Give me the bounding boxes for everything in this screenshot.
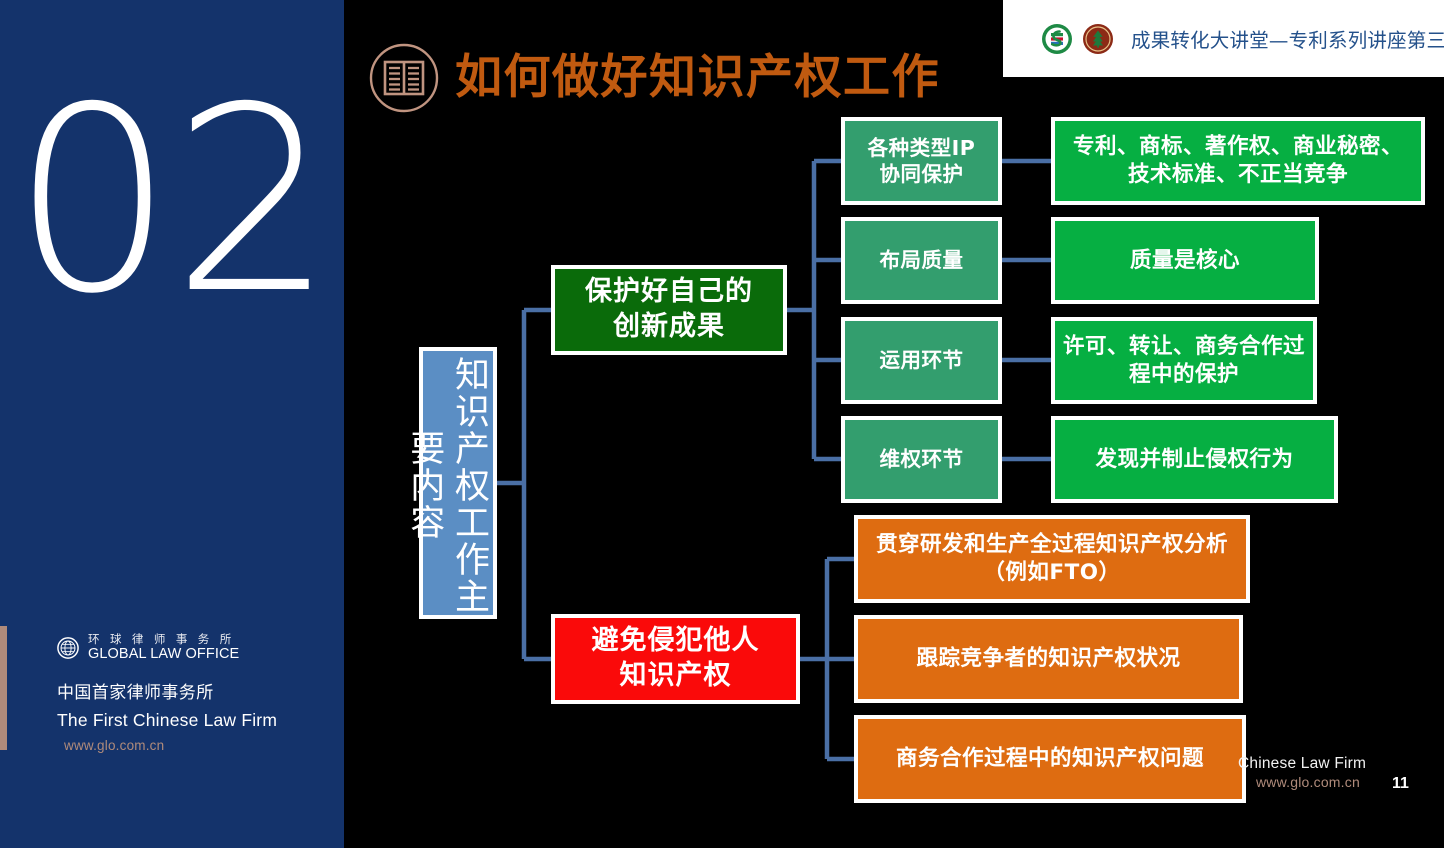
leaf-node-detect-stop-infringement[interactable]: 发现并制止侵权行为	[1051, 416, 1338, 503]
leaf-node-fto-analysis[interactable]: 贯穿研发和生产全过程知识产权分析（例如FTO）	[854, 515, 1250, 603]
leaf-node-track-competitors[interactable]: 跟踪竞争者的知识产权状况	[854, 615, 1243, 703]
root-node[interactable]: 知识产权工作主要内容	[419, 347, 497, 619]
leaf-node-ip-types-list[interactable]: 专利、商标、著作权、商业秘密、技术标准、不正当竞争	[1051, 117, 1425, 205]
branch-node-avoid-infringement[interactable]: 避免侵犯他人知识产权	[551, 614, 800, 704]
leaf-node-business-cooperation-ip[interactable]: 商务合作过程中的知识产权问题	[854, 715, 1246, 803]
mid-node-utilization-stage[interactable]: 运用环节	[841, 317, 1002, 404]
mid-node-rights-protection-stage[interactable]: 维权环节	[841, 416, 1002, 503]
watermark-line-1: Chinese Law Firm	[1238, 755, 1438, 773]
branch-node-protect-own-innovation[interactable]: 保护好自己的创新成果	[551, 265, 787, 355]
leaf-node-quality-is-core[interactable]: 质量是核心	[1051, 217, 1319, 304]
page-number: 11	[1392, 775, 1409, 793]
flow-chart: 知识产权工作主要内容 保护好自己的创新成果 避免侵犯他人知识产权 各种类型IP协…	[0, 0, 1444, 848]
mid-node-layout-quality[interactable]: 布局质量	[841, 217, 1002, 304]
watermark-line-2: www.glo.com.cn	[1256, 773, 1438, 791]
mid-node-ip-collaborative-protection[interactable]: 各种类型IP协同保护	[841, 117, 1002, 205]
leaf-node-license-transfer-protection[interactable]: 许可、转让、商务合作过程中的保护	[1051, 317, 1317, 404]
